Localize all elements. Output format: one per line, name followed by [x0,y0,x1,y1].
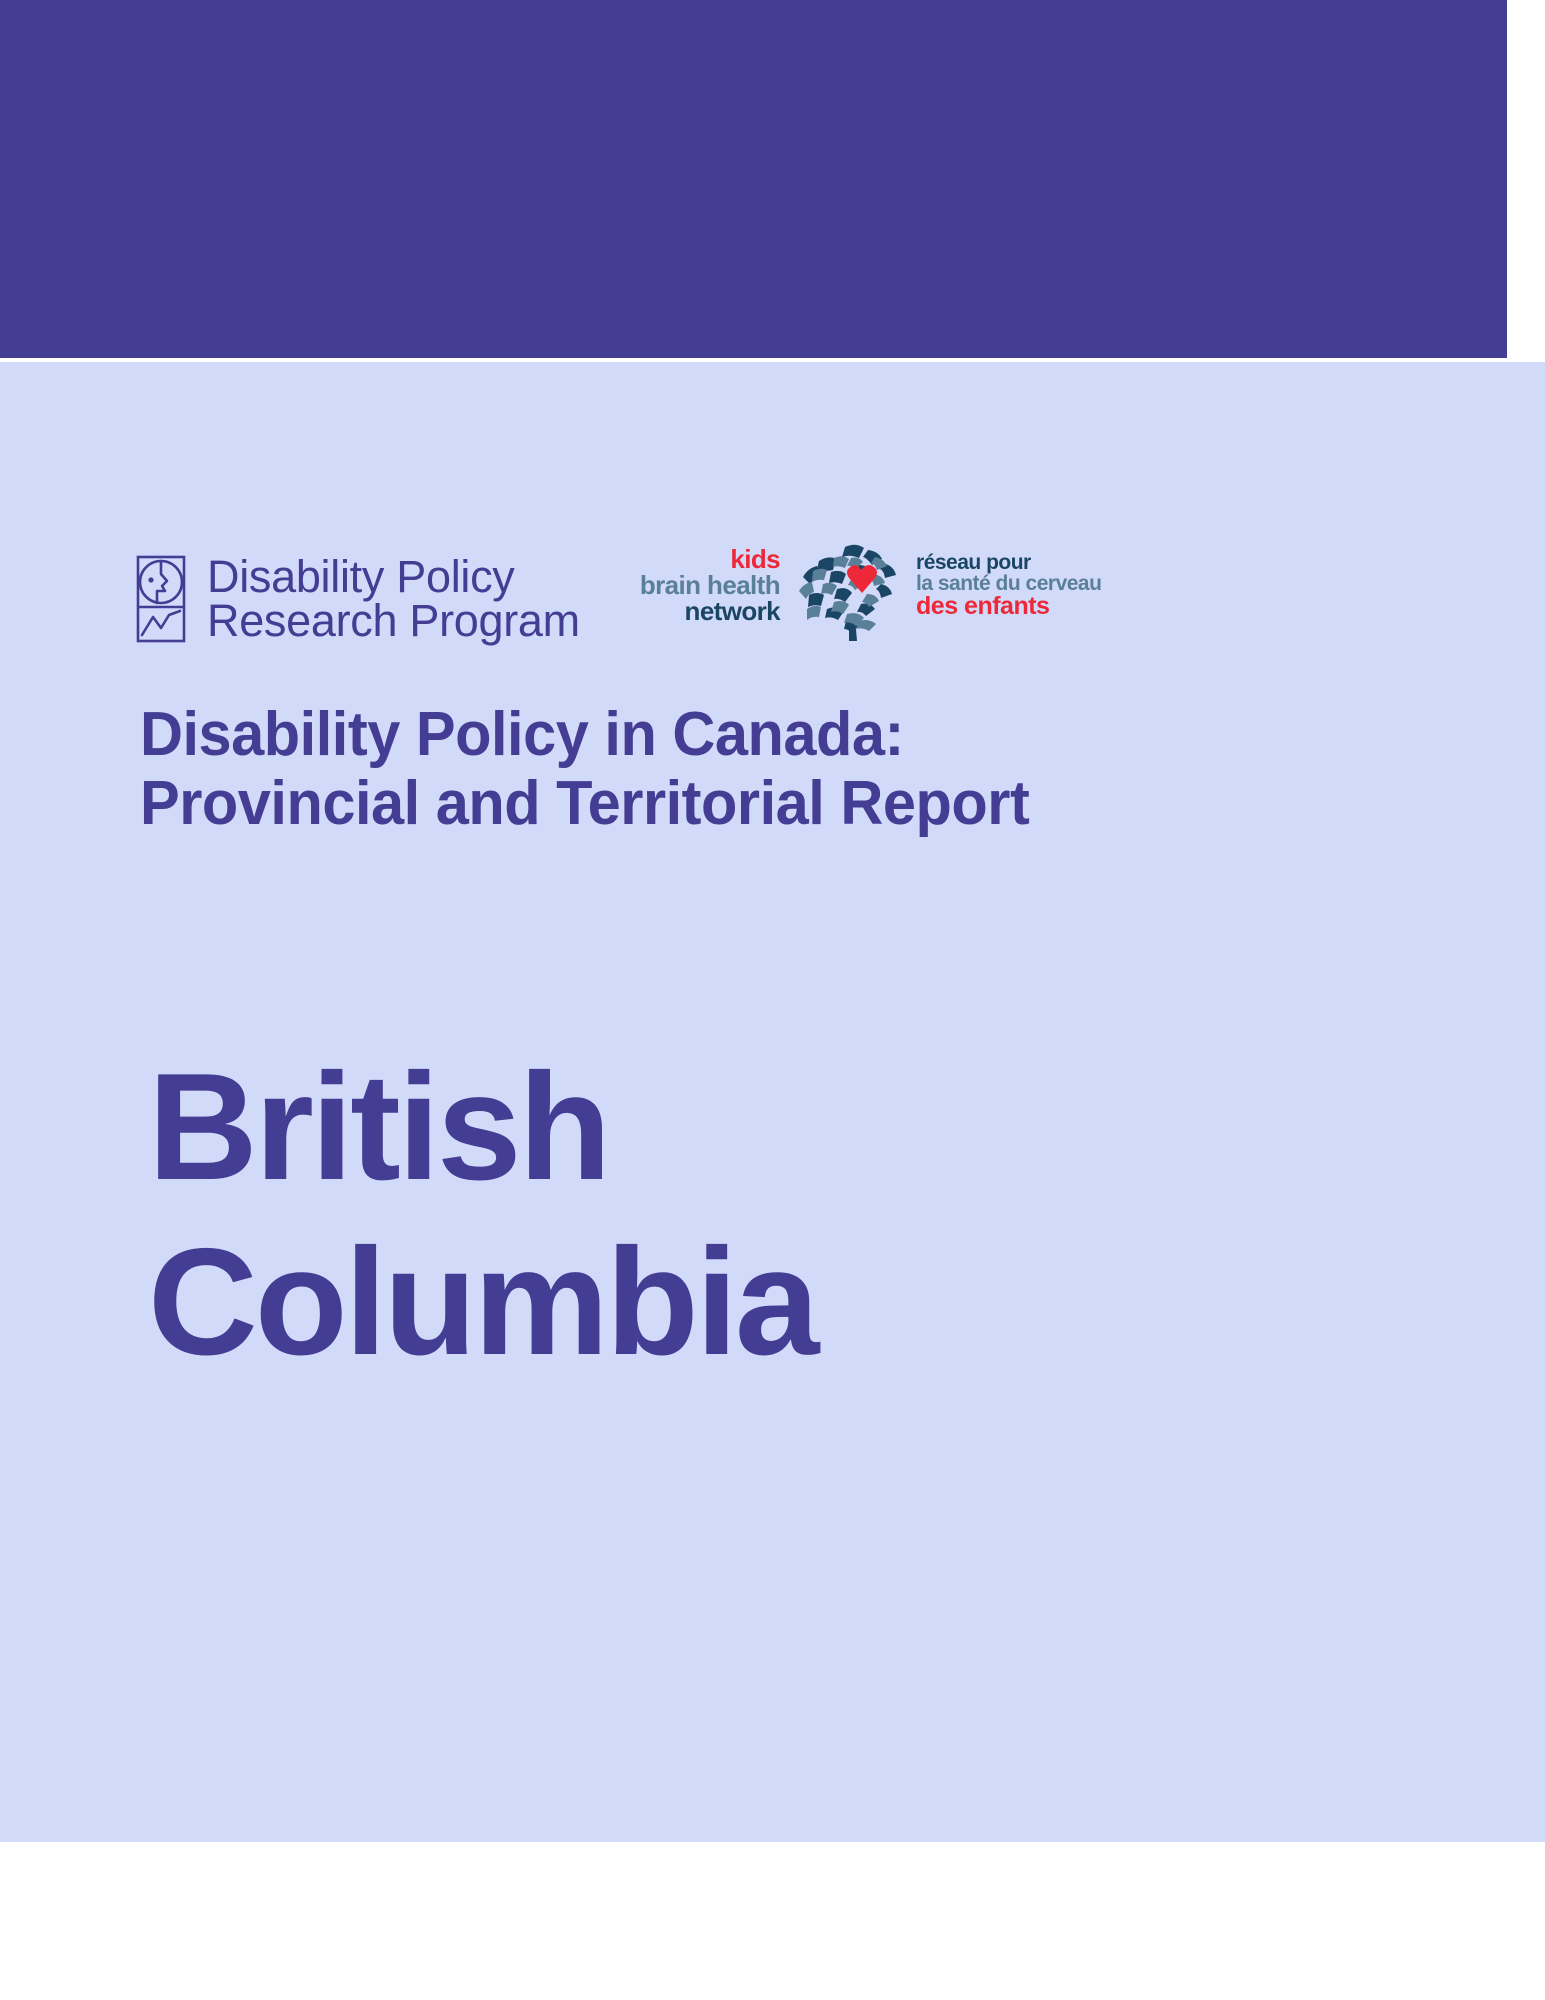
kbhn-en-line2: brain health [640,572,780,598]
dprp-wordmark: Disability Policy Research Program [207,555,580,643]
kbhn-en-line1: kids [640,546,780,572]
kbhn-fr-line3: des enfants [916,594,1101,619]
brain-mosaic-heart-icon [789,529,907,641]
jurisdiction-name: British Columbia [148,1040,1348,1390]
kbhn-en-line3: network [640,598,780,624]
kbhn-fr-line2: la santé du cerveau [916,573,1101,594]
report-cover-page: Disability Policy Research Program kids … [0,0,1545,2000]
disability-policy-research-program-logo: Disability Policy Research Program [134,553,580,645]
partner-logo-row: Disability Policy Research Program kids … [134,533,1101,645]
report-title: Disability Policy in Canada: Provincial … [140,700,1417,839]
kids-brain-health-network-logo: kids brain health network [640,529,1102,645]
kbhn-english-wordmark: kids brain health network [640,546,780,624]
header-color-band [0,0,1507,358]
kbhn-french-wordmark: réseau pour la santé du cerveau des enfa… [916,552,1101,619]
footer-logo-bar: McGill UNIVERSITY [0,1842,1545,2000]
dprp-profile-chart-icon [134,553,188,645]
kbhn-fr-line1: réseau pour [916,552,1101,573]
